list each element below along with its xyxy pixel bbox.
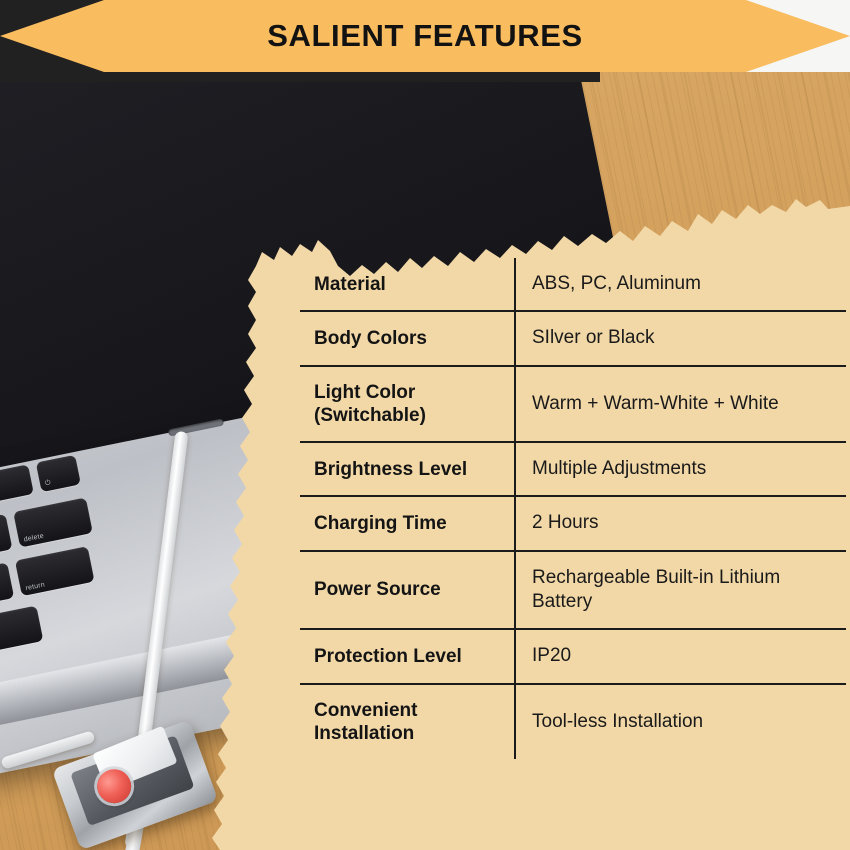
spec-value: Warm + Warm-White + White [514,367,846,441]
header-banner: SALIENT FEATURES [0,0,850,72]
table-row: MaterialABS, PC, Aluminum [300,258,846,312]
spec-value: Tool-less Installation [514,685,846,759]
table-row: Body ColorsSIlver or Black [300,312,846,366]
spec-value: SIlver or Black [514,312,846,364]
table-row: Protection LevelIP20 [300,630,846,684]
spec-key: Material [300,258,514,310]
table-row: Power SourceRechargeable Built-in Lithiu… [300,552,846,631]
spec-key: Convenient Installation [300,685,514,759]
table-row: Light Color (Switchable)Warm + Warm-Whit… [300,367,846,443]
page-title: SALIENT FEATURES [0,0,850,72]
spec-key: Body Colors [300,312,514,364]
spec-key: Power Source [300,552,514,629]
spec-key: Brightness Level [300,443,514,495]
table-row: Convenient InstallationTool-less Install… [300,685,846,759]
table-row: Charging Time2 Hours [300,497,846,551]
table-row: Brightness LevelMultiple Adjustments [300,443,846,497]
banner-underline [0,72,600,82]
spec-key: Charging Time [300,497,514,549]
infographic-card: F4 F5 F6 ⏻ delete return [0,0,850,850]
specifications-table: MaterialABS, PC, AluminumBody ColorsSIlv… [300,258,846,759]
spec-value: Multiple Adjustments [514,443,846,495]
spec-value: 2 Hours [514,497,846,549]
spec-value: Rechargeable Built-in Lithium Battery [514,552,846,629]
spec-key: Light Color (Switchable) [300,367,514,441]
spec-value: IP20 [514,630,846,682]
spec-value: ABS, PC, Aluminum [514,258,846,310]
spec-key: Protection Level [300,630,514,682]
